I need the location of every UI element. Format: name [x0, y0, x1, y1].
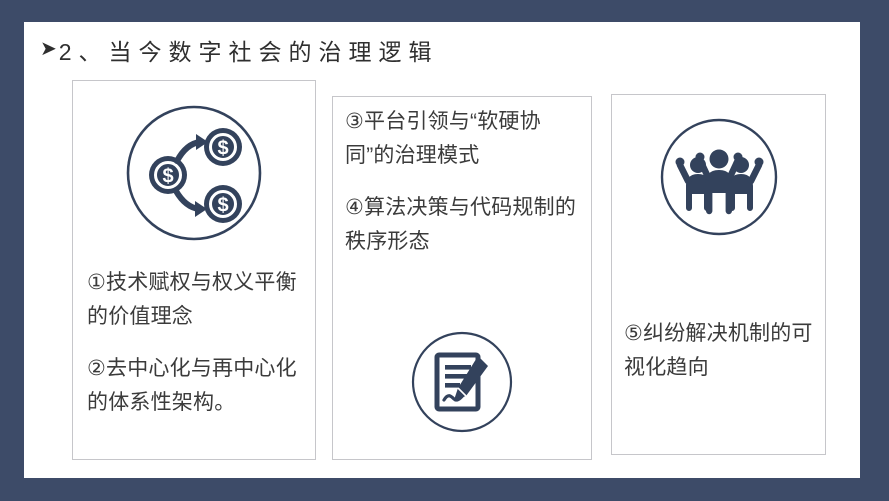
card-2-paragraph-1: ③平台引领与“软硬协同”的治理模式 [345, 105, 579, 173]
card-2-icon-wrap [333, 318, 591, 459]
card-3-text-wrap: ⑤纠纷解决机制的可视化趋向 [612, 248, 825, 454]
money-transfer-icon: $ $ $ [120, 99, 268, 252]
svg-text:$: $ [217, 138, 228, 160]
card-1-text: ①技术赋权与权义平衡的价值理念 ②去中心化与再中心化的体系性架构。 [73, 252, 315, 420]
card-3-paragraph-1: ⑤纠纷解决机制的可视化趋向 [624, 317, 815, 385]
content-card-1[interactable]: $ $ $ [72, 80, 316, 460]
document-signature-icon [406, 326, 518, 443]
page-title: 2、当今数字社会的治理逻辑 [59, 33, 439, 67]
card-2-spacer [333, 259, 591, 318]
svg-text:$: $ [162, 166, 173, 188]
card-1-paragraph-2: ②去中心化与再中心化的体系性架构。 [87, 352, 301, 420]
slide-canvas: ➤ 2、当今数字社会的治理逻辑 $ $ [24, 22, 860, 478]
card-3-icon-wrap [612, 95, 825, 248]
svg-text:$: $ [217, 195, 228, 217]
card-1-paragraph-1: ①技术赋权与权义平衡的价值理念 [87, 266, 301, 334]
slide-frame: ➤ 2、当今数字社会的治理逻辑 $ $ [0, 0, 889, 501]
card-2-paragraph-2: ④算法决策与代码规制的秩序形态 [345, 191, 579, 259]
people-group-icon [653, 111, 785, 248]
card-1-icon-wrap: $ $ $ [73, 81, 315, 252]
arrow-bullet-icon: ➤ [40, 39, 57, 59]
card-2-text: ③平台引领与“软硬协同”的治理模式 ④算法决策与代码规制的秩序形态 [333, 97, 591, 259]
card-3-text: ⑤纠纷解决机制的可视化趋向 [612, 317, 825, 385]
content-card-2[interactable]: ③平台引领与“软硬协同”的治理模式 ④算法决策与代码规制的秩序形态 [332, 96, 592, 460]
content-card-3[interactable]: ⑤纠纷解决机制的可视化趋向 [611, 94, 826, 455]
slide-title: ➤ 2、当今数字社会的治理逻辑 [40, 30, 439, 70]
